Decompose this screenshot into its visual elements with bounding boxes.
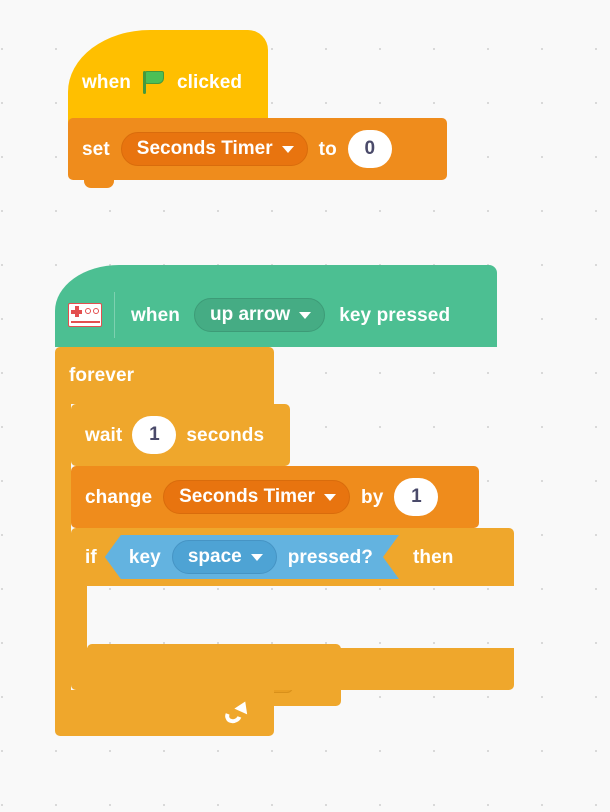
forever-inner-stack: wait 1 seconds change Seconds Timer by 1 bbox=[71, 404, 514, 690]
change-label: change bbox=[85, 488, 152, 507]
seconds-label: seconds bbox=[186, 426, 264, 445]
script-when-flag-clicked[interactable]: when clicked set Seconds Timer to 0 bbox=[68, 30, 268, 148]
loop-arrow-icon bbox=[224, 701, 250, 725]
variable-dropdown-label: Seconds Timer bbox=[137, 139, 273, 158]
change-amount-input[interactable]: 1 bbox=[394, 478, 438, 516]
if-label: if bbox=[85, 548, 97, 567]
key-dropdown-label: space bbox=[188, 547, 242, 566]
then-label: then bbox=[413, 548, 454, 567]
if-header[interactable]: if key space pressed? then bbox=[71, 528, 514, 586]
flag-cloth bbox=[145, 71, 164, 84]
variable-dropdown-seconds-timer[interactable]: Seconds Timer bbox=[121, 132, 308, 166]
block-forever[interactable]: forever wait 1 seconds change Seconds Ti… bbox=[55, 347, 274, 736]
block-change-variable-by[interactable]: change Seconds Timer by 1 bbox=[71, 466, 479, 528]
when-label: when bbox=[82, 73, 131, 92]
key-dropdown-up-arrow[interactable]: up arrow bbox=[194, 298, 325, 332]
chevron-down-icon bbox=[324, 494, 336, 501]
set-value-input[interactable]: 0 bbox=[348, 130, 392, 168]
gamepad-bottom-bar bbox=[71, 321, 100, 323]
forever-label: forever bbox=[69, 366, 134, 385]
block-if-then[interactable]: if key space pressed? then bbox=[71, 528, 514, 690]
key-label: key bbox=[129, 548, 161, 567]
gamepad-button-a bbox=[85, 308, 91, 314]
by-label: by bbox=[361, 488, 383, 507]
dpad-horizontal bbox=[71, 310, 82, 314]
key-dropdown-space[interactable]: space bbox=[172, 540, 277, 574]
if-left-arm bbox=[71, 586, 87, 648]
block-key-pressed-boolean[interactable]: key space pressed? bbox=[105, 535, 399, 579]
block-set-variable-to[interactable]: set Seconds Timer to 0 bbox=[68, 118, 447, 180]
forever-header[interactable]: forever bbox=[55, 347, 274, 404]
to-label: to bbox=[319, 140, 337, 159]
block-bottom-bump bbox=[84, 180, 114, 188]
gamepad-icon bbox=[68, 303, 102, 327]
blocks-workspace[interactable]: when clicked set Seconds Timer to 0 bbox=[0, 0, 610, 812]
set-label: set bbox=[82, 140, 110, 159]
chevron-down-icon bbox=[282, 146, 294, 153]
forever-footer[interactable] bbox=[55, 690, 274, 736]
if-footer[interactable] bbox=[71, 648, 514, 690]
when-label: when bbox=[131, 306, 180, 325]
hat-block-content: when up arrow key pressed bbox=[68, 292, 450, 338]
hat-block-content: when clicked bbox=[82, 70, 242, 94]
variable-dropdown-label: Seconds Timer bbox=[179, 487, 315, 506]
wait-label: wait bbox=[85, 426, 122, 445]
clicked-label: clicked bbox=[177, 73, 242, 92]
variable-dropdown-seconds-timer[interactable]: Seconds Timer bbox=[163, 480, 350, 514]
block-wait-seconds[interactable]: wait 1 seconds bbox=[71, 404, 290, 466]
key-pressed-label: key pressed bbox=[339, 306, 450, 325]
chevron-down-icon bbox=[299, 312, 311, 319]
chevron-down-icon bbox=[251, 554, 263, 561]
hat-divider bbox=[114, 292, 115, 338]
gamepad-button-b bbox=[93, 308, 99, 314]
wait-duration-input[interactable]: 1 bbox=[132, 416, 176, 454]
key-dropdown-label: up arrow bbox=[210, 305, 290, 324]
hat-block-when-key-pressed[interactable]: when up arrow key pressed bbox=[55, 265, 497, 347]
script-when-key-pressed[interactable]: when up arrow key pressed forever wait 1… bbox=[55, 265, 497, 347]
green-flag-icon bbox=[143, 70, 165, 94]
pressed-label: pressed? bbox=[288, 548, 373, 567]
